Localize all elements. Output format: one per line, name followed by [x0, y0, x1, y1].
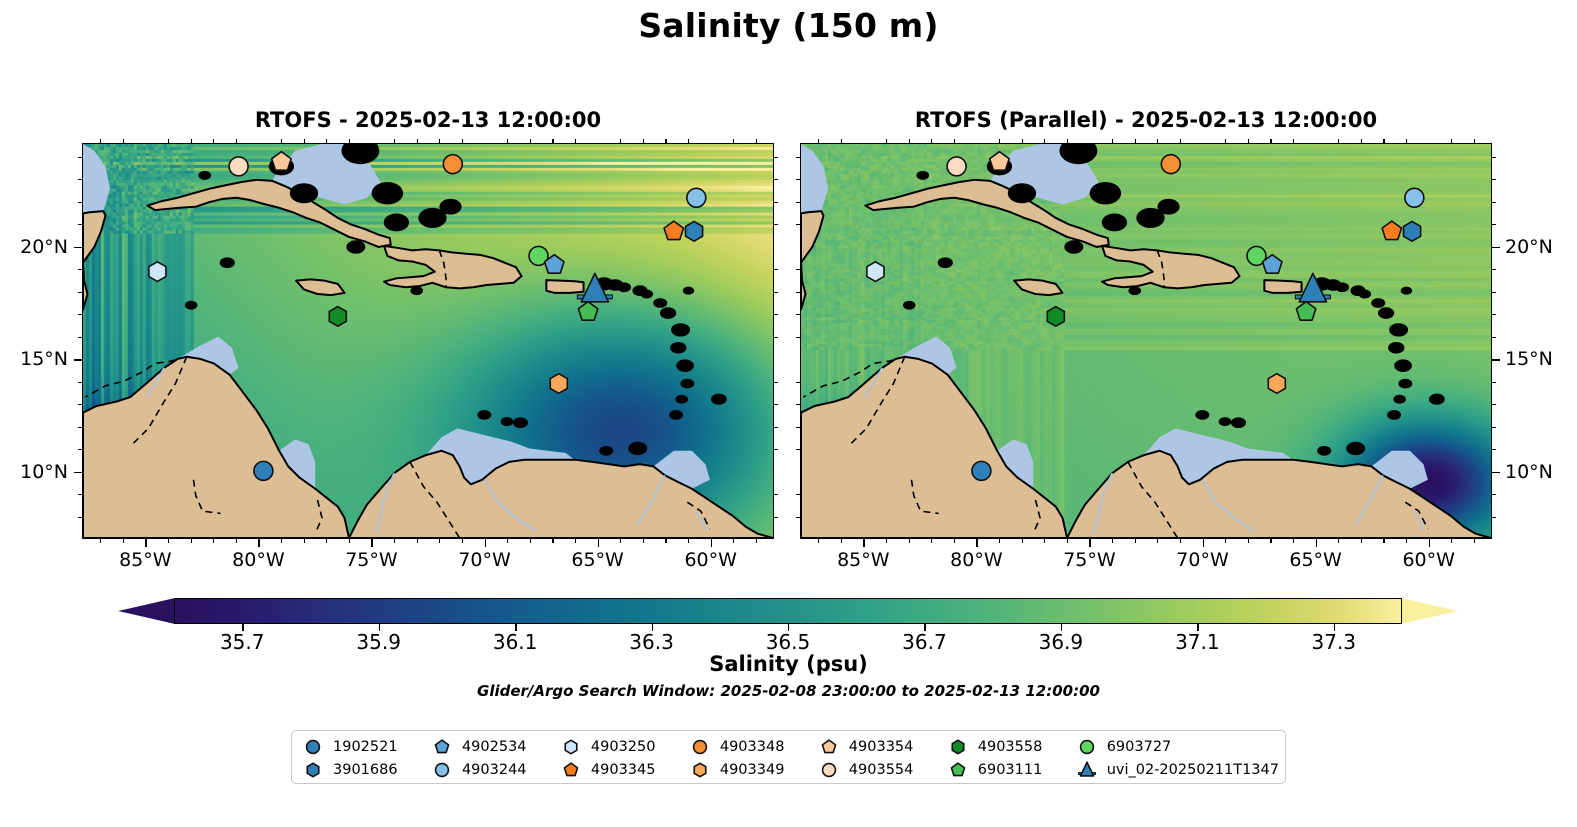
marker-4903348[interactable]: [693, 740, 706, 753]
marker-3901686[interactable]: [307, 763, 319, 776]
y-axis-minor-tick: [1492, 224, 1496, 225]
y-axis-minor-tick: [796, 449, 800, 450]
y-axis-minor-tick: [78, 337, 82, 338]
y-axis-tick-label: 20°N: [1505, 236, 1553, 258]
colorbar-tick-label: 36.5: [766, 630, 811, 654]
x-axis-minor-tick: [841, 139, 842, 143]
y-axis-minor-tick: [1492, 517, 1496, 518]
x-axis-tick-label: 85°W: [119, 549, 171, 571]
legend-marker-circle-icon: [1074, 736, 1100, 758]
marker-4903554[interactable]: [822, 763, 835, 776]
x-axis-tick-label: 60°W: [684, 549, 736, 571]
y-axis-minor-tick: [796, 427, 800, 428]
x-axis-minor-tick: [1474, 539, 1475, 543]
legend-marker-hexagon-icon: [300, 759, 326, 781]
y-axis-minor-tick: [796, 314, 800, 315]
marker-6903727[interactable]: [1080, 740, 1093, 753]
marker-1902521[interactable]: [254, 461, 273, 480]
y-axis-minor-tick: [78, 427, 82, 428]
x-axis-minor-tick: [349, 539, 350, 543]
x-axis-minor-tick: [999, 539, 1000, 543]
legend-marker-hexagon-icon: [558, 736, 584, 758]
x-axis-minor-tick: [213, 539, 214, 543]
legend-label: 4903348: [720, 739, 785, 755]
marker-1902521[interactable]: [972, 461, 991, 480]
x-axis-minor-tick: [818, 539, 819, 543]
x-axis-tick: [863, 539, 865, 547]
x-axis-minor-tick: [688, 539, 689, 543]
x-axis-minor-tick: [665, 139, 666, 143]
x-axis-minor-tick: [168, 139, 169, 143]
legend-label: 4903558: [978, 739, 1043, 755]
map-panel-rtofs-parallel[interactable]: [800, 143, 1492, 539]
marker-4903349[interactable]: [550, 374, 567, 394]
y-axis-minor-tick: [774, 314, 778, 315]
y-axis-minor-tick: [774, 517, 778, 518]
x-axis-minor-tick: [1022, 139, 1023, 143]
y-axis-tick: [74, 247, 82, 249]
legend-entry-uvi_02-20250211T1347[interactable]: uvi_02-20250211T1347: [1074, 759, 1279, 781]
y-axis-minor-tick: [774, 157, 778, 158]
marker-4903250[interactable]: [149, 262, 166, 282]
x-axis-minor-tick: [733, 539, 734, 543]
map-panel-rtofs[interactable]: [82, 143, 774, 539]
x-axis-tick: [976, 539, 978, 547]
y-axis-minor-tick: [1492, 449, 1496, 450]
x-axis-minor-tick: [1157, 139, 1158, 143]
x-axis-minor-tick: [281, 139, 282, 143]
x-axis-minor-tick: [1135, 139, 1136, 143]
x-axis-minor-tick: [841, 539, 842, 543]
y-axis-minor-tick: [774, 404, 778, 405]
y-axis-minor-tick: [78, 517, 82, 518]
map-raster-rtofs: [83, 144, 773, 538]
x-axis-tick: [598, 539, 600, 547]
legend-entry-4903558[interactable]: 4903558: [945, 736, 1074, 758]
x-axis-minor-tick: [123, 539, 124, 543]
y-axis-minor-tick: [796, 517, 800, 518]
legend-marker-circle-icon: [687, 736, 713, 758]
marker-4903558[interactable]: [952, 740, 964, 753]
legend-label: 4903250: [591, 739, 656, 755]
x-axis-tick: [258, 539, 260, 547]
x-axis-minor-tick: [1338, 139, 1339, 143]
marker-4903345[interactable]: [564, 763, 577, 776]
y-axis-minor-tick: [796, 202, 800, 203]
marker-4903250[interactable]: [565, 740, 577, 753]
x-axis-minor-tick: [954, 139, 955, 143]
x-axis-minor-tick: [931, 539, 932, 543]
legend-marker-circle-icon: [429, 759, 455, 781]
x-axis-minor-tick: [756, 539, 757, 543]
x-axis-minor-tick: [954, 539, 955, 543]
x-axis-tick-label: 80°W: [232, 549, 284, 571]
y-axis-minor-tick: [796, 179, 800, 180]
x-axis-minor-tick: [1022, 539, 1023, 543]
x-axis-minor-tick: [1157, 539, 1158, 543]
legend-label: 6903111: [978, 762, 1043, 778]
x-axis-minor-tick: [999, 139, 1000, 143]
x-axis-minor-tick: [688, 139, 689, 143]
x-axis-minor-tick: [168, 539, 169, 543]
y-axis-minor-tick: [774, 427, 778, 428]
y-axis-minor-tick: [78, 314, 82, 315]
x-axis-minor-tick: [417, 539, 418, 543]
legend-marker-pentagon-icon: [558, 759, 584, 781]
y-axis-minor-tick: [796, 494, 800, 495]
y-axis-minor-tick: [774, 179, 778, 180]
x-axis-tick: [485, 539, 487, 547]
x-axis-minor-tick: [1112, 539, 1113, 543]
y-axis-minor-tick: [1492, 157, 1496, 158]
y-axis-minor-tick: [78, 269, 82, 270]
legend-marker-pentagon-icon: [816, 736, 842, 758]
colorbar-tick-label: 36.7: [902, 630, 947, 654]
y-axis-minor-tick: [78, 292, 82, 293]
panel-title-rtofs: RTOFS - 2025-02-13 12:00:00: [82, 108, 774, 132]
legend-marker-glider-icon: [1074, 759, 1100, 781]
x-axis-minor-tick: [1248, 139, 1249, 143]
x-axis-minor-tick: [1180, 139, 1181, 143]
legend-grid: 1902521490253449032504903348490335449035…: [300, 735, 1279, 779]
x-axis-minor-tick: [733, 139, 734, 143]
y-axis-minor-tick: [796, 157, 800, 158]
marker-4903554[interactable]: [947, 157, 966, 176]
x-axis-tick-label: 80°W: [950, 549, 1002, 571]
x-axis-minor-tick: [1338, 539, 1339, 543]
legend-entry-4903349[interactable]: 4903349: [687, 759, 816, 781]
marker-4903244[interactable]: [1405, 188, 1424, 207]
marker-4903244[interactable]: [436, 763, 449, 776]
legend-marker-circle-icon: [816, 759, 842, 781]
legend-label: 4903345: [591, 762, 656, 778]
x-axis-minor-tick: [818, 139, 819, 143]
x-axis-minor-tick: [1067, 539, 1068, 543]
y-axis-minor-tick: [78, 404, 82, 405]
x-axis-minor-tick: [1361, 539, 1362, 543]
legend-label: 4903554: [849, 762, 914, 778]
legend-entry-4902534[interactable]: 4902534: [429, 736, 558, 758]
x-axis-minor-tick: [1112, 139, 1113, 143]
marker-4903244[interactable]: [687, 188, 706, 207]
y-axis-minor-tick: [774, 292, 778, 293]
y-axis-minor-tick: [774, 449, 778, 450]
y-axis-tick-label: 10°N: [1505, 461, 1553, 483]
y-axis-tick: [1492, 247, 1500, 249]
colorbar-axis-label: Salinity (psu): [0, 652, 1577, 676]
legend-entry-4903345[interactable]: 4903345: [558, 759, 687, 781]
x-axis-minor-tick: [1135, 539, 1136, 543]
y-axis-minor-tick: [774, 337, 778, 338]
marker-6903111[interactable]: [951, 763, 964, 776]
x-axis-minor-tick: [1270, 539, 1271, 543]
x-axis-minor-tick: [552, 139, 553, 143]
y-axis-minor-tick: [796, 292, 800, 293]
legend-marker-hexagon-icon: [687, 759, 713, 781]
x-axis-minor-tick: [462, 139, 463, 143]
legend-entry-6903727[interactable]: 6903727: [1074, 736, 1279, 758]
colorbar-tick-label: 36.3: [629, 630, 674, 654]
legend-label: 3901686: [333, 762, 398, 778]
x-axis-minor-tick: [326, 539, 327, 543]
y-axis-minor-tick: [774, 494, 778, 495]
x-axis-minor-tick: [236, 139, 237, 143]
x-axis-minor-tick: [1044, 539, 1045, 543]
y-axis-tick: [1492, 472, 1500, 474]
x-axis-minor-tick: [507, 539, 508, 543]
x-axis-minor-tick: [1293, 139, 1294, 143]
marker-4903554[interactable]: [229, 157, 248, 176]
marker-4903558[interactable]: [329, 307, 346, 327]
x-axis-minor-tick: [665, 539, 666, 543]
x-axis-minor-tick: [191, 539, 192, 543]
x-axis-minor-tick: [620, 139, 621, 143]
x-axis-minor-tick: [575, 539, 576, 543]
x-axis-minor-tick: [394, 139, 395, 143]
x-axis-minor-tick: [213, 139, 214, 143]
x-axis-minor-tick: [552, 539, 553, 543]
x-axis-minor-tick: [439, 539, 440, 543]
legend-entry-1902521[interactable]: 1902521: [300, 736, 429, 758]
x-axis-minor-tick: [1248, 539, 1249, 543]
colorbar-tick-label: 36.9: [1039, 630, 1084, 654]
y-axis-minor-tick: [1492, 202, 1496, 203]
x-axis-minor-tick: [1451, 139, 1452, 143]
colorbar-tick-label: 35.9: [356, 630, 401, 654]
x-axis-minor-tick: [530, 539, 531, 543]
x-axis-tick: [1429, 539, 1431, 547]
legend-label: 1902521: [333, 739, 398, 755]
y-axis-minor-tick: [796, 224, 800, 225]
x-axis-minor-tick: [643, 139, 644, 143]
y-axis-tick: [1492, 359, 1500, 361]
y-axis-minor-tick: [796, 337, 800, 338]
legend-label: 4902534: [462, 739, 527, 755]
marker-4903558[interactable]: [1047, 307, 1064, 327]
x-axis-tick: [145, 539, 147, 547]
x-axis-minor-tick: [462, 539, 463, 543]
x-axis-minor-tick: [100, 539, 101, 543]
x-axis-minor-tick: [507, 139, 508, 143]
x-axis-minor-tick: [304, 539, 305, 543]
legend-label: uvi_02-20250211T1347: [1107, 762, 1279, 778]
x-axis-tick-label: 75°W: [1063, 549, 1115, 571]
x-axis-minor-tick: [1067, 139, 1068, 143]
y-axis-minor-tick: [1492, 179, 1496, 180]
x-axis-minor-tick: [886, 139, 887, 143]
x-axis-minor-tick: [1225, 539, 1226, 543]
x-axis-minor-tick: [886, 539, 887, 543]
map-raster-parallel: [801, 144, 1491, 538]
x-axis-minor-tick: [909, 139, 910, 143]
x-axis-minor-tick: [909, 539, 910, 543]
colorbar[interactable]: [118, 598, 1458, 624]
x-axis-tick: [711, 539, 713, 547]
y-axis-minor-tick: [1492, 494, 1496, 495]
x-axis-minor-tick: [1451, 539, 1452, 543]
x-axis-minor-tick: [1474, 139, 1475, 143]
legend-entry-4903244[interactable]: 4903244: [429, 759, 558, 781]
colorbar-tick-label: 37.1: [1175, 630, 1220, 654]
x-axis-tick: [1203, 539, 1205, 547]
x-axis-minor-tick: [439, 139, 440, 143]
y-axis-minor-tick: [78, 494, 82, 495]
x-axis-minor-tick: [1383, 139, 1384, 143]
legend-label: 6903727: [1107, 739, 1172, 755]
y-axis-minor-tick: [1492, 269, 1496, 270]
x-axis-minor-tick: [931, 139, 932, 143]
marker-4903348[interactable]: [1161, 155, 1180, 174]
y-axis-minor-tick: [774, 224, 778, 225]
x-axis-minor-tick: [756, 139, 757, 143]
legend-label: 4903244: [462, 762, 527, 778]
legend-label: 4903349: [720, 762, 785, 778]
y-axis-tick: [74, 472, 82, 474]
y-axis-minor-tick: [1492, 337, 1496, 338]
colorbar-extend-min-arrow: [118, 598, 175, 624]
marker-1902521[interactable]: [307, 740, 320, 753]
y-axis-tick: [74, 359, 82, 361]
search-window-caption: Glider/Argo Search Window: 2025-02-08 23…: [0, 682, 1577, 700]
y-axis-minor-tick: [78, 382, 82, 383]
legend-label: 4903354: [849, 739, 914, 755]
x-axis-minor-tick: [1406, 139, 1407, 143]
y-axis-minor-tick: [1492, 427, 1496, 428]
x-axis-tick: [371, 539, 373, 547]
x-axis-minor-tick: [1225, 139, 1226, 143]
x-axis-minor-tick: [304, 139, 305, 143]
x-axis-minor-tick: [349, 139, 350, 143]
x-axis-tick-label: 70°W: [458, 549, 510, 571]
x-axis-minor-tick: [1406, 539, 1407, 543]
colorbar-extend-max-arrow: [1401, 598, 1458, 624]
x-axis-minor-tick: [1293, 539, 1294, 543]
y-axis-minor-tick: [774, 382, 778, 383]
x-axis-minor-tick: [123, 139, 124, 143]
x-axis-minor-tick: [1180, 539, 1181, 543]
x-axis-minor-tick: [1361, 139, 1362, 143]
legend-entry-3901686[interactable]: 3901686: [300, 759, 429, 781]
x-axis-minor-tick: [100, 139, 101, 143]
argo-glider-legend[interactable]: 1902521490253449032504903348490335449035…: [291, 730, 1286, 784]
x-axis-tick: [1089, 539, 1091, 547]
legend-entry-4903250[interactable]: 4903250: [558, 736, 687, 758]
y-axis-minor-tick: [796, 382, 800, 383]
x-axis-tick-label: 85°W: [837, 549, 889, 571]
x-axis-minor-tick: [326, 139, 327, 143]
marker-4902534[interactable]: [435, 740, 448, 753]
colorbar-gradient: [174, 598, 1402, 624]
legend-marker-pentagon-icon: [429, 736, 455, 758]
legend-entry-6903111[interactable]: 6903111: [945, 759, 1074, 781]
y-axis-tick-label: 10°N: [6, 461, 68, 483]
y-axis-minor-tick: [78, 449, 82, 450]
y-axis-minor-tick: [1492, 404, 1496, 405]
x-axis-minor-tick: [1383, 539, 1384, 543]
x-axis-minor-tick: [417, 139, 418, 143]
y-axis-minor-tick: [774, 269, 778, 270]
legend-entry-4903354[interactable]: 4903354: [816, 736, 945, 758]
y-axis-minor-tick: [774, 202, 778, 203]
x-axis-tick: [1316, 539, 1318, 547]
figure-canvas: Salinity (150 m) RTOFS - 2025-02-13 12:0…: [0, 0, 1577, 827]
y-axis-minor-tick: [796, 269, 800, 270]
x-axis-tick-label: 60°W: [1402, 549, 1454, 571]
y-axis-minor-tick: [78, 179, 82, 180]
x-axis-minor-tick: [281, 539, 282, 543]
y-axis-minor-tick: [1492, 314, 1496, 315]
x-axis-tick-label: 75°W: [345, 549, 397, 571]
marker-4903348[interactable]: [443, 155, 462, 174]
x-axis-minor-tick: [620, 539, 621, 543]
x-axis-minor-tick: [575, 139, 576, 143]
y-axis-tick-label: 20°N: [6, 236, 68, 258]
panel-title-rtofs-parallel: RTOFS (Parallel) - 2025-02-13 12:00:00: [800, 108, 1492, 132]
y-axis-tick-label: 15°N: [1505, 348, 1553, 370]
legend-entry-4903348[interactable]: 4903348: [687, 736, 816, 758]
y-axis-minor-tick: [1492, 292, 1496, 293]
x-axis-tick-label: 70°W: [1176, 549, 1228, 571]
marker-4903354[interactable]: [822, 740, 835, 753]
x-axis-minor-tick: [643, 539, 644, 543]
marker-3901686[interactable]: [1404, 221, 1421, 241]
x-axis-minor-tick: [1270, 139, 1271, 143]
legend-marker-hexagon-icon: [945, 736, 971, 758]
marker-3901686[interactable]: [686, 221, 703, 241]
x-axis-tick-label: 65°W: [571, 549, 623, 571]
x-axis-minor-tick: [394, 539, 395, 543]
y-axis-minor-tick: [1492, 382, 1496, 383]
colorbar-tick-label: 37.3: [1312, 630, 1357, 654]
x-axis-minor-tick: [530, 139, 531, 143]
marker-4903349[interactable]: [694, 763, 706, 776]
y-axis-minor-tick: [796, 404, 800, 405]
legend-marker-circle-icon: [300, 736, 326, 758]
x-axis-minor-tick: [191, 139, 192, 143]
marker-4903250[interactable]: [867, 262, 884, 282]
y-axis-minor-tick: [78, 157, 82, 158]
figure-title: Salinity (150 m): [0, 6, 1577, 45]
x-axis-minor-tick: [1044, 139, 1045, 143]
legend-entry-4903554[interactable]: 4903554: [816, 759, 945, 781]
x-axis-minor-tick: [236, 539, 237, 543]
y-axis-minor-tick: [78, 202, 82, 203]
x-axis-tick-label: 65°W: [1289, 549, 1341, 571]
marker-4903349[interactable]: [1268, 374, 1285, 394]
colorbar-tick-label: 36.1: [493, 630, 538, 654]
colorbar-tick-label: 35.7: [220, 630, 265, 654]
y-axis-minor-tick: [78, 224, 82, 225]
legend-marker-pentagon-icon: [945, 759, 971, 781]
y-axis-tick-label: 15°N: [6, 348, 68, 370]
marker-uvi_02-20250211T1347[interactable]: [1078, 762, 1095, 776]
